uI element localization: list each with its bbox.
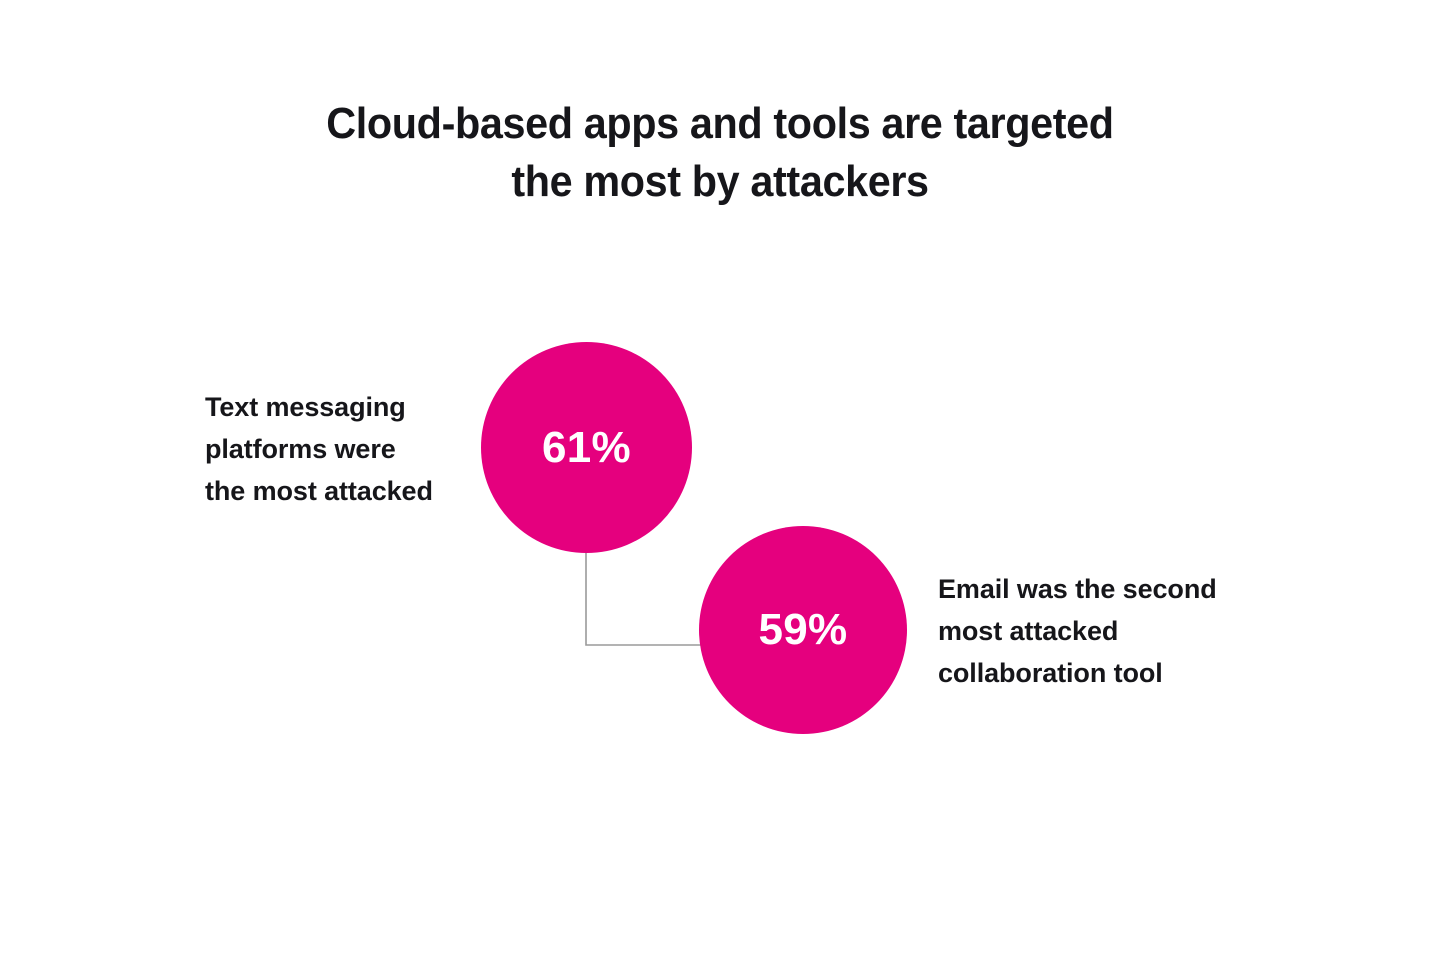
label-right-line-2: most attacked: [938, 610, 1217, 652]
bubble-value-email: 59%: [759, 608, 848, 652]
label-right-line-1: Email was the second: [938, 568, 1217, 610]
label-right-line-3: collaboration tool: [938, 652, 1217, 694]
label-text-messaging: Text messaging platforms were the most a…: [205, 386, 433, 512]
infographic-canvas: Cloud-based apps and tools are targeted …: [0, 0, 1440, 960]
bubble-value-text-messaging: 61%: [542, 426, 631, 470]
title-line-1: Cloud-based apps and tools are targeted: [43, 95, 1397, 153]
title-line-2: the most by attackers: [43, 153, 1397, 211]
page-title: Cloud-based apps and tools are targeted …: [0, 95, 1440, 211]
label-left-line-1: Text messaging: [205, 386, 433, 428]
bubble-text-messaging[interactable]: 61%: [481, 342, 692, 553]
connector-elbow-icon: [575, 540, 715, 660]
label-left-line-3: the most attacked: [205, 470, 433, 512]
bubble-email[interactable]: 59%: [699, 526, 907, 734]
label-email: Email was the second most attacked colla…: [938, 568, 1217, 694]
label-left-line-2: platforms were: [205, 428, 433, 470]
